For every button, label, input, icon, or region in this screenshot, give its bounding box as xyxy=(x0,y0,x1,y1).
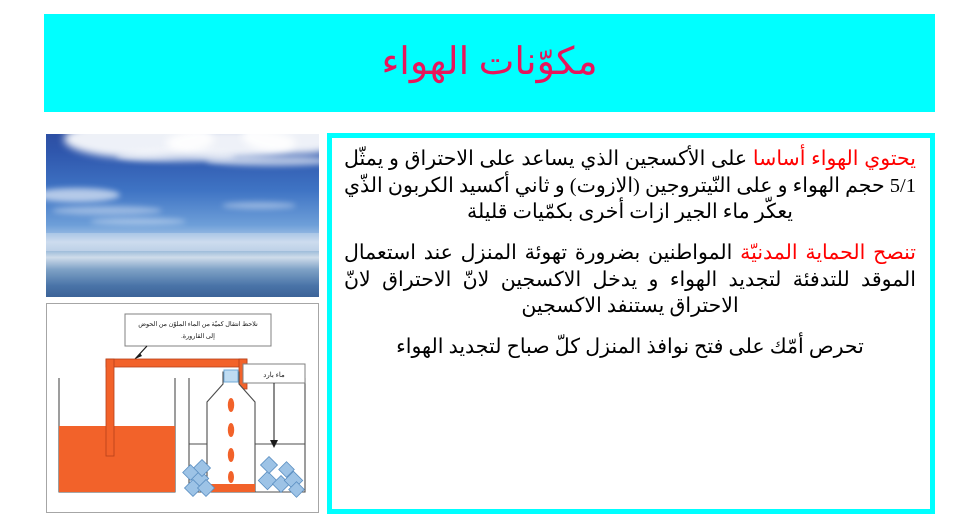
horizon-band xyxy=(46,233,319,253)
left-basin-liquid xyxy=(59,426,175,492)
ice-cube xyxy=(261,457,278,474)
paragraph-3-body-a: تحرص أمّك على فتح نوافذ المنزل كلّ صباح … xyxy=(396,336,864,358)
cold-water-label-text: ماء بارد xyxy=(263,371,285,379)
ice-cube xyxy=(258,471,276,489)
sea-region xyxy=(46,251,319,297)
paragraph-2: تنصح الحماية المدنيّة المواطنين بضرورة ت… xyxy=(344,240,916,320)
tube-horizontal xyxy=(106,359,247,367)
bottle-stopper xyxy=(224,370,238,382)
ice-cubes-right-group xyxy=(258,457,304,498)
content-text-box: يحتوي الهواء أساسا على الأكسجين الذي يسا… xyxy=(327,133,935,514)
paragraph-1-body-b: حجم الهواء و على النّيتروجين (الازوت) و … xyxy=(344,175,890,224)
paragraph-1-body-a: على الأكسجين الذي يساعد على الاحتراق و ي… xyxy=(344,148,753,170)
cloud-shape xyxy=(222,202,296,209)
cloud-shape xyxy=(90,218,186,225)
liquid-drop xyxy=(228,423,234,437)
cloud-shape xyxy=(52,206,162,215)
title-banner: مكوّنات الهواء xyxy=(44,14,935,112)
paragraph-1: يحتوي الهواء أساسا على الأكسجين الذي يسا… xyxy=(344,146,916,226)
sky-and-sea-photo xyxy=(46,134,319,297)
liquid-drop xyxy=(228,398,234,412)
diagram-caption-box xyxy=(125,314,271,346)
paragraph-1-highlight: يحتوي الهواء أساسا xyxy=(753,148,916,170)
callout-arrow-head xyxy=(135,353,142,359)
page-title: مكوّنات الهواء xyxy=(381,42,597,84)
water-transfer-experiment-diagram: نلاحظ انتقال كميّة من الماء الملوّن من ا… xyxy=(46,303,319,513)
paragraph-1-fraction: 5/1 xyxy=(890,175,916,197)
diagram-canvas: نلاحظ انتقال كميّة من الماء الملوّن من ا… xyxy=(47,304,318,512)
paragraph-2-highlight: تنصح الحماية المدنيّة xyxy=(740,242,916,264)
liquid-drop xyxy=(228,471,234,483)
tube-left-vertical xyxy=(106,359,114,456)
diagram-caption-line-1: نلاحظ انتقال كميّة من الماء الملوّن من ا… xyxy=(138,321,258,328)
diagram-caption-line-2: إلى القارورة. xyxy=(181,333,215,340)
paragraph-3: تحرص أمّك على فتح نوافذ المنزل كلّ صباح … xyxy=(344,334,916,361)
liquid-drop xyxy=(228,448,234,462)
